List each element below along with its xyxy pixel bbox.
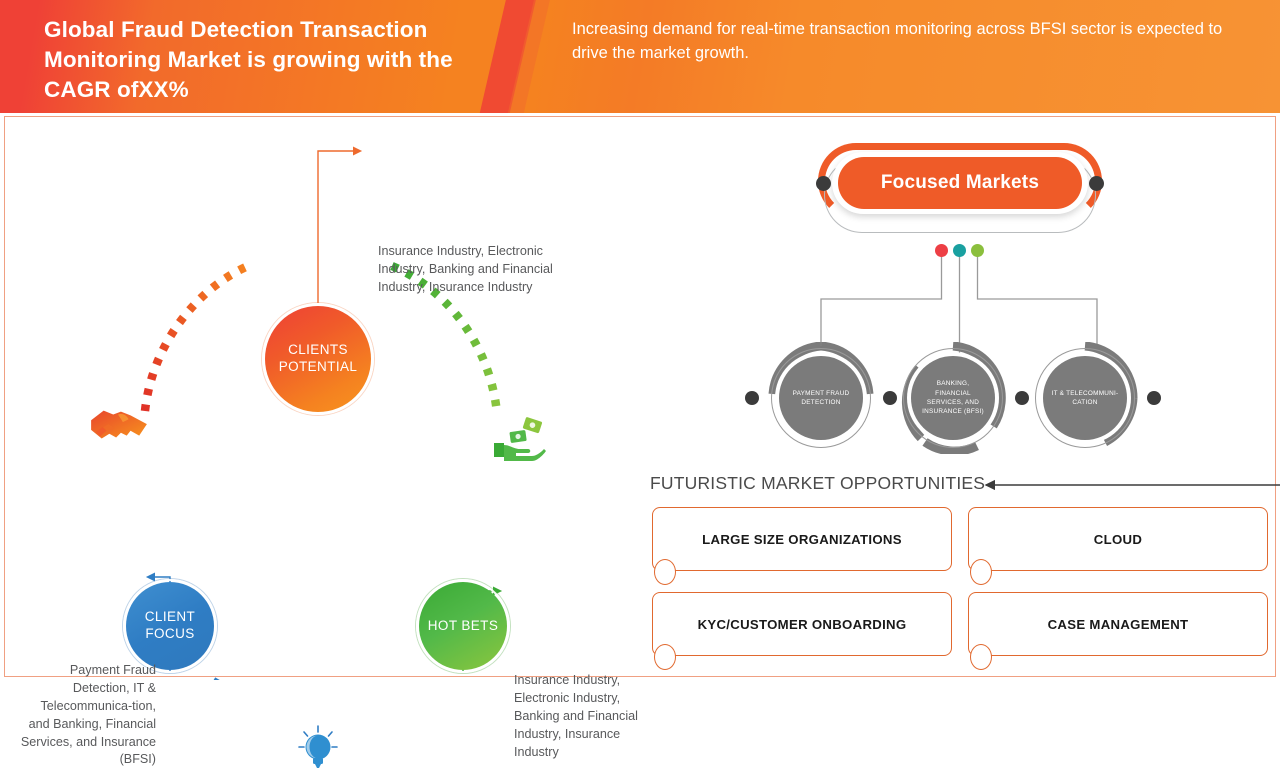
opportunity-label-2: KYC/CUSTOMER ONBOARDING <box>698 617 907 632</box>
leader-clients <box>318 151 360 303</box>
annotation-client-focus: Payment Fraud Detection, IT & Telecommun… <box>18 662 156 769</box>
header-subtitle: Increasing demand for real-time transact… <box>572 18 1232 66</box>
focused-markets-dot-left <box>816 176 831 191</box>
focused-markets-label: Focused Markets <box>881 172 1039 194</box>
market-circle-label-0: PAYMENT FRAUD DETECTION <box>779 356 863 440</box>
page-title: Global Fraud Detection Transaction Monit… <box>44 15 514 105</box>
opportunity-knob-1 <box>970 559 992 585</box>
node-clients-potential[interactable]: CLIENTS POTENTIAL <box>265 306 371 412</box>
connector-dot-green <box>971 244 984 257</box>
focused-markets-banner: Focused Markets <box>810 143 1110 233</box>
opportunity-label-1: CLOUD <box>1094 532 1142 547</box>
market-circle-label-1: BANKING, FINANCIAL SERVICES, AND INSURAN… <box>911 356 995 440</box>
opportunity-knob-0 <box>654 559 676 585</box>
node-hot-bets[interactable]: HOT BETS <box>419 582 507 670</box>
focused-markets-panel: Focused Markets PAYMENT FRAUD DETECTION <box>640 113 1280 680</box>
annotation-hot-bets: Insurance Industry, Electronic Industry,… <box>514 672 640 761</box>
market-circle-it-telecom[interactable]: IT & TELECOMMUNI-CATION <box>1029 342 1141 454</box>
node-client-focus-label: CLIENT FOCUS <box>126 609 214 643</box>
cycle-diagram-panel: CLIENTS POTENTIAL CLIENT FOCUS HOT BETS … <box>0 113 640 680</box>
header-banner: Global Fraud Detection Transaction Monit… <box>0 0 1280 113</box>
opportunity-knob-2 <box>654 644 676 670</box>
market-circle-payment-fraud-detection[interactable]: PAYMENT FRAUD DETECTION <box>765 342 877 454</box>
focused-markets-dot-right <box>1089 176 1104 191</box>
opportunities-title: FUTURISTIC MARKET OPPORTUNITIES <box>650 473 985 494</box>
money-in-hand-icon <box>492 413 548 465</box>
opportunity-card-case-management[interactable]: CASE MANAGEMENT <box>968 592 1268 656</box>
handshake-icon <box>88 401 150 451</box>
opportunity-label-3: CASE MANAGEMENT <box>1048 617 1189 632</box>
market-circle-bfsi[interactable]: BANKING, FINANCIAL SERVICES, AND INSURAN… <box>897 342 1009 454</box>
lightbulb-icon <box>296 725 340 773</box>
market-circle-dot-right-0 <box>883 391 897 405</box>
node-clients-potential-label: CLIENTS POTENTIAL <box>265 342 371 376</box>
annotation-clients-potential: Insurance Industry, Electronic Industry,… <box>378 243 593 297</box>
opportunity-card-large-size-organizations[interactable]: LARGE SIZE ORGANIZATIONS <box>652 507 952 571</box>
orange-dotted-arc <box>145 266 248 411</box>
header-left-accent <box>0 0 14 113</box>
infographic-page: Global Fraud Detection Transaction Monit… <box>0 0 1280 680</box>
market-circle-dot-left-0 <box>745 391 759 405</box>
opportunity-label-0: LARGE SIZE ORGANIZATIONS <box>702 532 902 547</box>
opportunity-card-kyc-customer-onboarding[interactable]: KYC/CUSTOMER ONBOARDING <box>652 592 952 656</box>
market-circle-dot-right-1 <box>1015 391 1029 405</box>
market-circle-dot-right-2 <box>1147 391 1161 405</box>
node-client-focus[interactable]: CLIENT FOCUS <box>126 582 214 670</box>
focused-markets-pill[interactable]: Focused Markets <box>838 157 1082 209</box>
node-hot-bets-label: HOT BETS <box>428 618 498 635</box>
opportunity-knob-3 <box>970 644 992 670</box>
connector-dot-teal <box>953 244 966 257</box>
market-circle-label-2: IT & TELECOMMUNI-CATION <box>1043 356 1127 440</box>
opportunity-card-cloud[interactable]: CLOUD <box>968 507 1268 571</box>
connector-dot-red <box>935 244 948 257</box>
